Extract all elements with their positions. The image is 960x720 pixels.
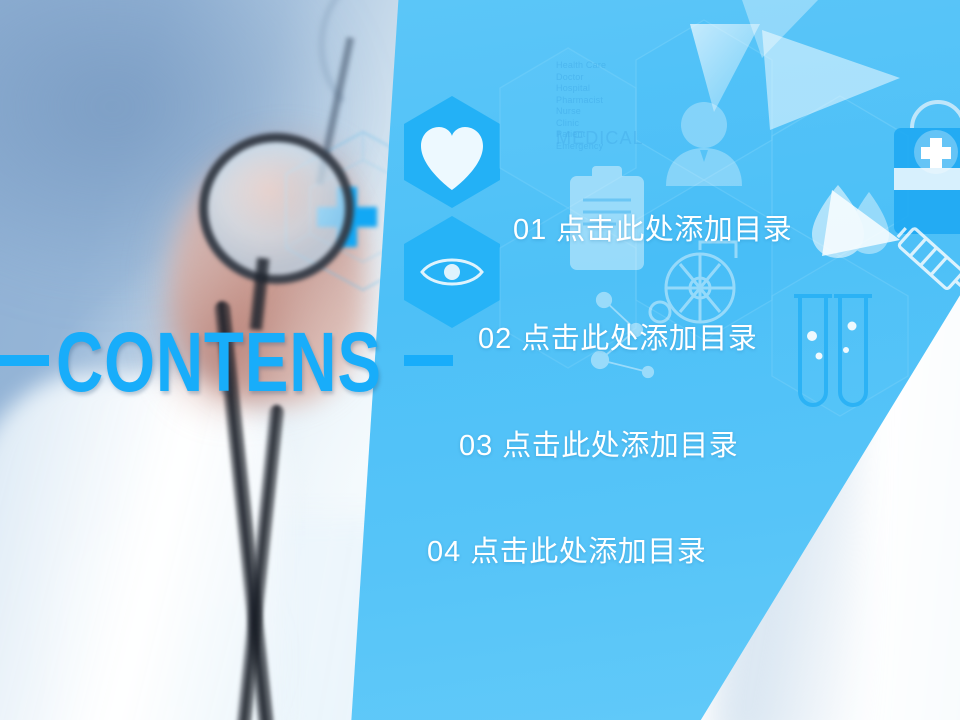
agenda-item-label: 点击此处添加目录 (502, 430, 738, 462)
agenda-item-label: 点击此处添加目录 (521, 323, 757, 355)
slide-canvas: Health Care Doctor Hospital Pharmacist N… (0, 0, 960, 720)
agenda-item-number: 02 (478, 323, 512, 355)
agenda-item-label: 点击此处添加目录 (556, 214, 792, 246)
agenda-item-01[interactable]: 01点击此处添加目录 (513, 206, 792, 248)
agenda-item-number: 04 (427, 536, 461, 568)
agenda-list: 01点击此处添加目录 02点击此处添加目录 03点击此处添加目录 04点击此处添… (0, 0, 960, 720)
agenda-item-number: 03 (459, 430, 493, 462)
agenda-item-label: 点击此处添加目录 (470, 536, 706, 568)
agenda-item-02[interactable]: 02点击此处添加目录 (478, 315, 757, 357)
agenda-item-03[interactable]: 03点击此处添加目录 (459, 422, 738, 464)
agenda-item-04[interactable]: 04点击此处添加目录 (427, 528, 706, 570)
agenda-item-number: 01 (513, 214, 547, 246)
